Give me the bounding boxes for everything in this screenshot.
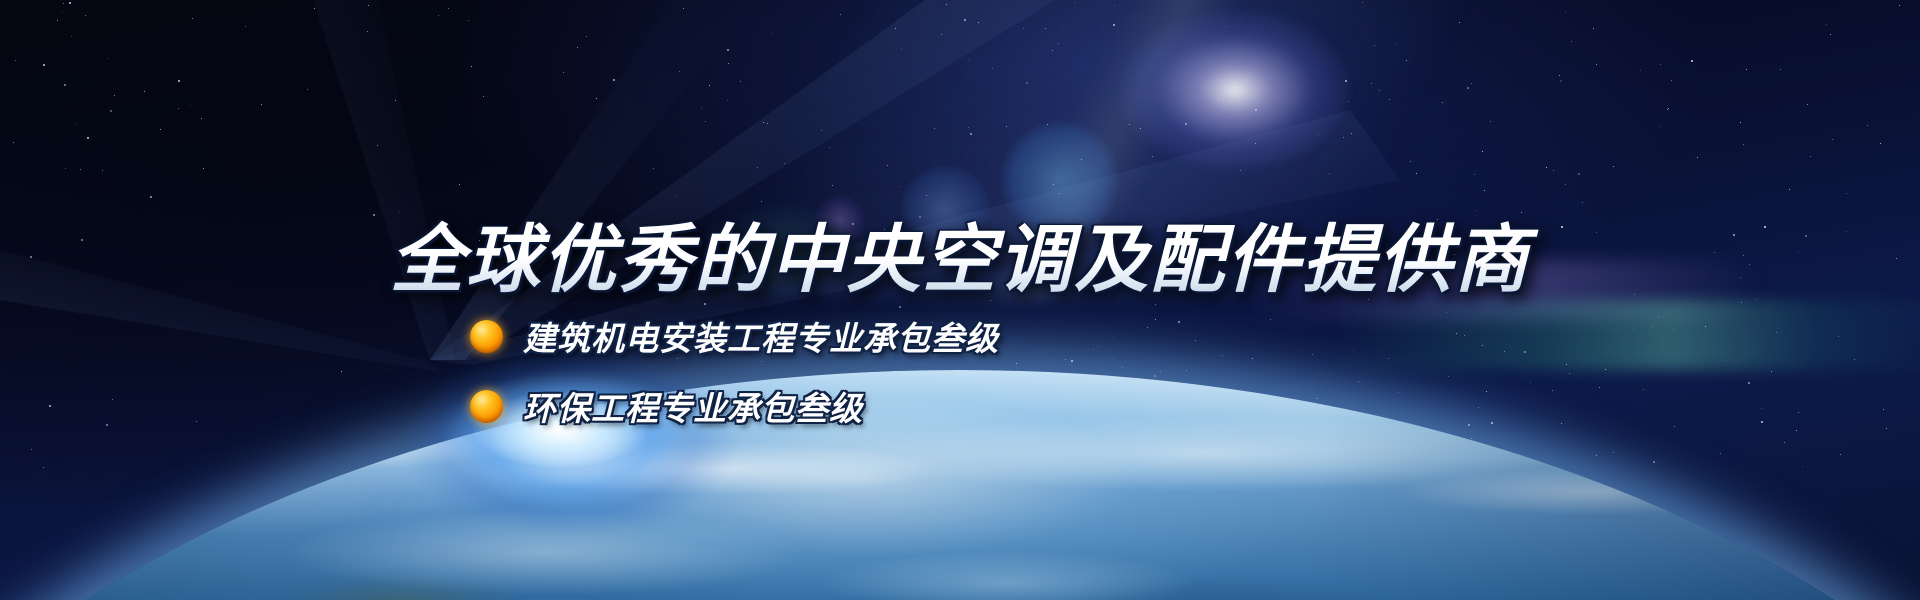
banner-bullet-list: 建筑机电安装工程专业承包叁级 环保工程专业承包叁级 [470, 312, 999, 430]
banner-content: 全球优秀的中央空调及配件提供商 建筑机电安装工程专业承包叁级 环保工程专业承包叁… [0, 0, 1920, 600]
bullet-label-2: 环保工程专业承包叁级 [523, 382, 863, 430]
hero-banner: 全球优秀的中央空调及配件提供商 建筑机电安装工程专业承包叁级 环保工程专业承包叁… [0, 0, 1920, 600]
orange-dot-icon [470, 390, 503, 423]
list-item: 建筑机电安装工程专业承包叁级 [470, 312, 999, 360]
banner-headline: 全球优秀的中央空调及配件提供商 [0, 200, 1920, 307]
bullet-label-1: 建筑机电安装工程专业承包叁级 [523, 312, 999, 360]
orange-dot-icon [470, 320, 503, 353]
list-item: 环保工程专业承包叁级 [470, 382, 999, 430]
